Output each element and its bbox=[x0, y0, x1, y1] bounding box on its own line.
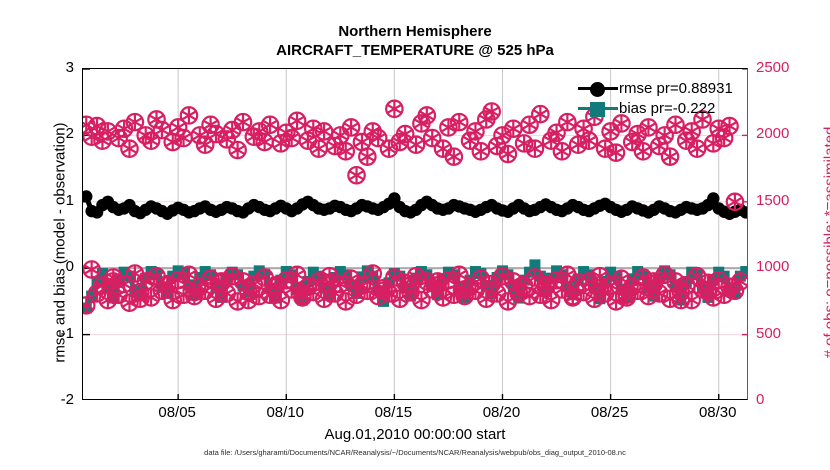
y-tick-right-500: 500 bbox=[756, 325, 826, 342]
data-file-note: data file: /Users/gharamti/Documents/NCA… bbox=[0, 448, 830, 457]
y-axis-label-left: rmse and bias (model - observation) bbox=[52, 63, 69, 423]
legend-label-rmse: rmse pr=0.88931 bbox=[618, 80, 733, 97]
x-tick-08-25: 08/25 bbox=[570, 404, 650, 421]
title-line-variable: AIRCRAFT_TEMPERATURE @ 525 hPa bbox=[0, 41, 830, 60]
y-tick-right-2500: 2500 bbox=[756, 59, 826, 76]
x-tick-08-20: 08/20 bbox=[461, 404, 541, 421]
legend-label-bias: bias pr=-0.222 bbox=[618, 100, 715, 117]
x-tick-08-05: 08/05 bbox=[137, 404, 217, 421]
legend-marker-rmse-icon bbox=[578, 79, 618, 97]
title-line-hemisphere: Northern Hemisphere bbox=[0, 22, 830, 41]
legend-item-bias[interactable]: bias pr=-0.222 bbox=[578, 98, 750, 118]
x-tick-08-30: 08/30 bbox=[678, 404, 758, 421]
y-tick-right-1000: 1000 bbox=[756, 258, 826, 275]
y-tick-right-1500: 1500 bbox=[756, 192, 826, 209]
x-tick-08-10: 08/10 bbox=[245, 404, 325, 421]
y-tick-right-2000: 2000 bbox=[756, 125, 826, 142]
page-title: Northern Hemisphere AIRCRAFT_TEMPERATURE… bbox=[0, 22, 830, 60]
plot-canvas bbox=[83, 69, 748, 400]
chart-figure: Northern Hemisphere AIRCRAFT_TEMPERATURE… bbox=[0, 0, 830, 470]
chart-legend: rmse pr=0.88931 bias pr=-0.222 bbox=[578, 78, 750, 118]
legend-item-rmse[interactable]: rmse pr=0.88931 bbox=[578, 78, 750, 98]
x-tick-08-15: 08/15 bbox=[353, 404, 433, 421]
x-axis-label: Aug.01,2010 00:00:00 start bbox=[82, 426, 748, 443]
legend-marker-bias-icon bbox=[578, 99, 618, 117]
y-tick-right-0: 0 bbox=[756, 391, 826, 408]
y-axis-label-right: # of obs: o=possible; *=assimilated bbox=[822, 63, 830, 423]
